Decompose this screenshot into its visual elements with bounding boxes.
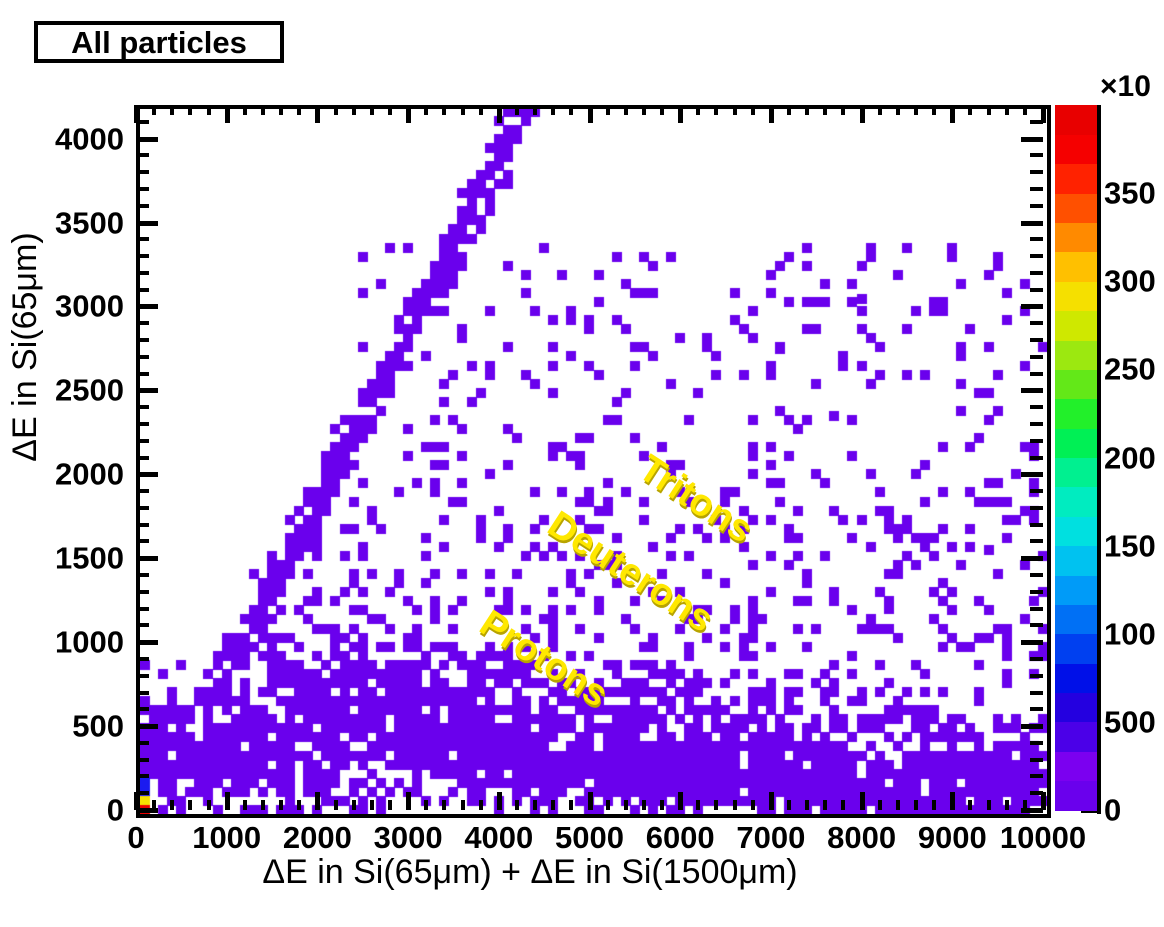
x-minor-tick-bottom (751, 800, 755, 810)
y-minor-tick-right (1030, 237, 1043, 241)
x-minor-tick-top (297, 105, 301, 115)
x-minor-tick-bottom (461, 800, 465, 810)
y-minor-tick-left (136, 254, 149, 258)
x-major-tick-top (860, 105, 865, 123)
y-minor-tick-right (1030, 573, 1043, 577)
x-minor-tick-bottom (642, 800, 646, 810)
y-minor-tick-left (136, 288, 149, 292)
palette-tick-label: 200 (1104, 442, 1156, 473)
y-major-tick-right (1021, 304, 1043, 309)
y-minor-tick-right (1030, 338, 1043, 342)
y-minor-tick-left (136, 120, 149, 124)
y-minor-tick-right (1030, 758, 1043, 762)
y-minor-tick-right (1030, 405, 1043, 409)
x-minor-tick-bottom (714, 800, 718, 810)
x-major-tick-top (315, 105, 320, 123)
x-major-tick-bottom (406, 792, 411, 810)
y-minor-tick-left (136, 237, 149, 241)
y-major-tick-right (1021, 724, 1043, 729)
y-minor-tick-left (136, 321, 149, 325)
x-minor-tick-bottom (787, 800, 791, 810)
y-minor-tick-right (1030, 355, 1043, 359)
y-major-tick-right (1021, 556, 1043, 561)
y-minor-tick-right (1030, 657, 1043, 661)
x-tick-label: 1000 (192, 822, 261, 853)
x-minor-tick-top (624, 105, 628, 115)
y-minor-tick-right (1030, 456, 1043, 460)
x-minor-tick-bottom (297, 800, 301, 810)
y-minor-tick-right (1030, 607, 1043, 611)
y-tick-label: 0 (6, 795, 124, 826)
palette-segment (1055, 193, 1097, 223)
y-major-tick-left (136, 304, 158, 309)
palette-segment (1055, 604, 1097, 634)
x-minor-tick-top (388, 105, 392, 115)
x-minor-tick-top (170, 105, 174, 115)
x-major-tick-bottom (769, 792, 774, 810)
palette-exponent-label: ×10 (1100, 72, 1151, 102)
x-minor-tick-bottom (987, 800, 991, 810)
y-minor-tick-left (136, 539, 149, 543)
x-minor-tick-top (1005, 105, 1009, 115)
x-tick-label: 5000 (555, 822, 624, 853)
x-minor-tick-bottom (805, 800, 809, 810)
x-minor-tick-bottom (279, 800, 283, 810)
x-major-tick-bottom (497, 792, 502, 810)
y-minor-tick-right (1030, 707, 1043, 711)
x-minor-tick-top (896, 105, 900, 115)
x-minor-tick-bottom (352, 800, 356, 810)
color-palette-bar (1055, 105, 1097, 810)
y-tick-label: 500 (6, 711, 124, 742)
y-minor-tick-right (1030, 439, 1043, 443)
y-major-tick-left (136, 388, 158, 393)
x-minor-tick-top (878, 105, 882, 115)
y-minor-tick-right (1030, 791, 1043, 795)
x-tick-label: 3000 (374, 822, 443, 853)
x-tick-label: 6000 (646, 822, 715, 853)
x-tick-label: 2000 (283, 822, 352, 853)
x-major-tick-top (950, 105, 955, 123)
y-minor-tick-right (1030, 523, 1043, 527)
palette-segment (1055, 546, 1097, 576)
y-minor-tick-right (1030, 120, 1043, 124)
y-major-tick-left (136, 556, 158, 561)
palette-segment (1055, 781, 1097, 811)
x-minor-tick-bottom (660, 800, 664, 810)
x-minor-tick-bottom (388, 800, 392, 810)
y-minor-tick-left (136, 137, 149, 141)
x-minor-tick-top (515, 105, 519, 115)
x-minor-tick-bottom (878, 800, 882, 810)
y-minor-tick-left (136, 523, 149, 527)
x-minor-tick-bottom (188, 800, 192, 810)
y-minor-tick-left (136, 691, 149, 695)
palette-segment (1055, 281, 1097, 311)
y-major-tick-right (1021, 640, 1043, 645)
x-minor-tick-top (370, 105, 374, 115)
x-tick-label: 0 (127, 822, 144, 853)
x-minor-tick-top (352, 105, 356, 115)
x-major-tick-top (769, 105, 774, 123)
y-minor-tick-right (1030, 741, 1043, 745)
x-minor-tick-top (261, 105, 265, 115)
x-minor-tick-bottom (914, 800, 918, 810)
y-major-tick-right (1021, 221, 1043, 226)
y-minor-tick-left (136, 607, 149, 611)
y-minor-tick-left (136, 573, 149, 577)
palette-segment (1055, 575, 1097, 605)
x-major-tick-bottom (225, 792, 230, 810)
x-minor-tick-top (479, 105, 483, 115)
x-minor-tick-bottom (442, 800, 446, 810)
x-minor-tick-bottom (479, 800, 483, 810)
y-minor-tick-left (136, 187, 149, 191)
x-minor-tick-top (424, 105, 428, 115)
x-minor-tick-top (660, 105, 664, 115)
x-tick-label: 4000 (464, 822, 533, 853)
y-major-tick-left (136, 472, 158, 477)
y-minor-tick-right (1030, 187, 1043, 191)
x-minor-tick-top (841, 105, 845, 115)
x-minor-tick-top (914, 105, 918, 115)
x-minor-tick-top (823, 105, 827, 115)
y-major-tick-left (136, 640, 158, 645)
y-minor-tick-right (1030, 506, 1043, 510)
x-minor-tick-bottom (932, 800, 936, 810)
y-minor-tick-right (1030, 170, 1043, 174)
title-text: All particles (71, 27, 247, 58)
x-minor-tick-top (188, 105, 192, 115)
x-minor-tick-top (334, 105, 338, 115)
y-minor-tick-right (1030, 288, 1043, 292)
x-minor-tick-top (968, 105, 972, 115)
palette-tick-label: 250 (1104, 354, 1156, 385)
palette-segment (1055, 340, 1097, 370)
y-minor-tick-right (1030, 539, 1043, 543)
y-minor-tick-right (1030, 674, 1043, 678)
palette-segment (1055, 663, 1097, 693)
y-minor-tick-left (136, 741, 149, 745)
x-minor-tick-top (1023, 105, 1027, 115)
palette-segment (1055, 399, 1097, 429)
y-minor-tick-left (136, 774, 149, 778)
title-box: All particles (34, 21, 284, 63)
y-minor-tick-right (1030, 774, 1043, 778)
y-minor-tick-left (136, 153, 149, 157)
y-minor-tick-right (1030, 321, 1043, 325)
palette-segment (1055, 487, 1097, 517)
x-minor-tick-bottom (551, 800, 555, 810)
y-minor-tick-right (1030, 153, 1043, 157)
x-tick-label: 8000 (827, 822, 896, 853)
y-minor-tick-left (136, 372, 149, 376)
y-minor-tick-right (1030, 489, 1043, 493)
y-major-tick-right (1021, 388, 1043, 393)
y-major-tick-right (1021, 472, 1043, 477)
palette-tick-label: 500 (1104, 706, 1156, 737)
x-minor-tick-top (569, 105, 573, 115)
x-minor-tick-bottom (170, 800, 174, 810)
x-major-tick-bottom (950, 792, 955, 810)
x-minor-tick-bottom (968, 800, 972, 810)
y-major-tick-left (136, 724, 158, 729)
x-tick-label: 7000 (736, 822, 805, 853)
x-minor-tick-bottom (606, 800, 610, 810)
x-minor-tick-top (442, 105, 446, 115)
y-minor-tick-right (1030, 137, 1043, 141)
y-major-tick-left (136, 221, 158, 226)
x-minor-tick-top (696, 105, 700, 115)
x-minor-tick-top (751, 105, 755, 115)
palette-segment (1055, 311, 1097, 341)
x-minor-tick-bottom (243, 800, 247, 810)
y-axis-title: ΔE in Si(65μm) (8, 117, 42, 577)
x-minor-tick-top (733, 105, 737, 115)
x-minor-tick-top (533, 105, 537, 115)
palette-tick-label: 350 (1104, 178, 1156, 209)
y-minor-tick-left (136, 623, 149, 627)
color-palette-axis (1097, 105, 1101, 814)
x-minor-tick-top (279, 105, 283, 115)
x-minor-tick-bottom (733, 800, 737, 810)
palette-segment (1055, 369, 1097, 399)
x-minor-tick-top (606, 105, 610, 115)
y-minor-tick-left (136, 422, 149, 426)
y-minor-tick-left (136, 489, 149, 493)
palette-segment (1055, 458, 1097, 488)
palette-segment (1055, 516, 1097, 546)
x-minor-tick-bottom (207, 800, 211, 810)
y-minor-tick-right (1030, 254, 1043, 258)
palette-segment (1055, 751, 1097, 781)
x-minor-tick-bottom (370, 800, 374, 810)
y-minor-tick-left (136, 439, 149, 443)
x-minor-tick-top (987, 105, 991, 115)
x-minor-tick-bottom (841, 800, 845, 810)
x-minor-tick-top (714, 105, 718, 115)
palette-segment (1055, 252, 1097, 282)
y-minor-tick-right (1030, 204, 1043, 208)
palette-segment (1055, 634, 1097, 664)
palette-tick-label: 0 (1104, 795, 1121, 826)
x-minor-tick-bottom (569, 800, 573, 810)
palette-tick-label: 100 (1104, 618, 1156, 649)
y-minor-tick-left (136, 758, 149, 762)
x-tick-label: 9000 (918, 822, 987, 853)
x-minor-tick-bottom (823, 800, 827, 810)
x-minor-tick-top (932, 105, 936, 115)
y-minor-tick-right (1030, 590, 1043, 594)
x-minor-tick-bottom (533, 800, 537, 810)
y-minor-tick-left (136, 791, 149, 795)
y-minor-tick-right (1030, 372, 1043, 376)
x-minor-tick-top (461, 105, 465, 115)
x-major-tick-top (225, 105, 230, 123)
y-minor-tick-left (136, 338, 149, 342)
x-major-tick-bottom (860, 792, 865, 810)
x-minor-tick-bottom (334, 800, 338, 810)
x-major-tick-top (497, 105, 502, 123)
palette-segment (1055, 693, 1097, 723)
palette-segment (1055, 428, 1097, 458)
y-minor-tick-left (136, 674, 149, 678)
y-minor-tick-left (136, 405, 149, 409)
palette-segment (1055, 105, 1097, 135)
x-minor-tick-top (642, 105, 646, 115)
y-major-tick-right (1021, 808, 1043, 813)
x-axis-title: ΔE in Si(65μm) + ΔE in Si(1500μm) (0, 855, 1060, 889)
y-minor-tick-right (1030, 691, 1043, 695)
x-major-tick-top (588, 105, 593, 123)
x-minor-tick-top (207, 105, 211, 115)
y-minor-tick-left (136, 657, 149, 661)
y-minor-tick-right (1030, 623, 1043, 627)
x-minor-tick-bottom (1005, 800, 1009, 810)
y-minor-tick-left (136, 204, 149, 208)
x-tick-label: 10000 (1000, 822, 1086, 853)
x-minor-tick-bottom (515, 800, 519, 810)
x-major-tick-bottom (315, 792, 320, 810)
x-minor-tick-top (805, 105, 809, 115)
palette-tick-label: 300 (1104, 266, 1156, 297)
x-minor-tick-bottom (261, 800, 265, 810)
y-minor-tick-left (136, 506, 149, 510)
x-minor-tick-top (152, 105, 156, 115)
palette-segment (1055, 134, 1097, 164)
x-minor-tick-top (551, 105, 555, 115)
y-minor-tick-left (136, 355, 149, 359)
y-major-tick-left (136, 808, 158, 813)
x-major-tick-top (678, 105, 683, 123)
x-minor-tick-bottom (424, 800, 428, 810)
y-minor-tick-left (136, 707, 149, 711)
y-tick-label: 1000 (6, 627, 124, 658)
palette-segment (1055, 164, 1097, 194)
x-major-tick-bottom (678, 792, 683, 810)
x-minor-tick-bottom (624, 800, 628, 810)
x-major-tick-top (406, 105, 411, 123)
y-minor-tick-right (1030, 271, 1043, 275)
x-minor-tick-top (787, 105, 791, 115)
x-major-tick-bottom (588, 792, 593, 810)
x-minor-tick-top (243, 105, 247, 115)
y-minor-tick-left (136, 456, 149, 460)
palette-segment (1055, 722, 1097, 752)
palette-segment (1055, 223, 1097, 253)
y-minor-tick-left (136, 271, 149, 275)
y-minor-tick-left (136, 590, 149, 594)
x-minor-tick-bottom (696, 800, 700, 810)
x-minor-tick-bottom (896, 800, 900, 810)
y-minor-tick-left (136, 170, 149, 174)
y-minor-tick-right (1030, 422, 1043, 426)
palette-tick-label: 150 (1104, 530, 1156, 561)
